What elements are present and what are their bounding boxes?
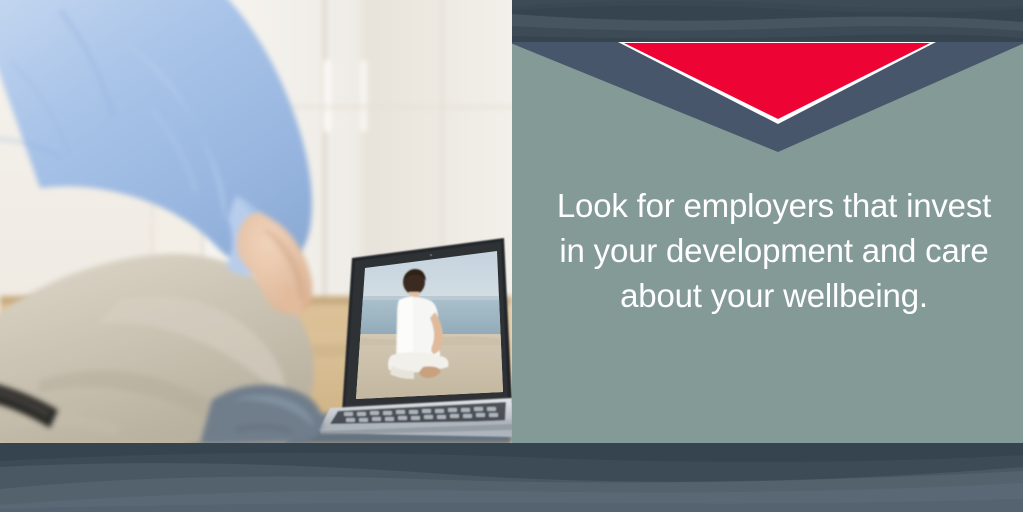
bottom-wave-band xyxy=(0,443,1023,512)
top-wave-band xyxy=(512,0,1023,44)
webcam-icon xyxy=(430,254,433,257)
quote-text: Look for employers that invest in your d… xyxy=(540,183,1008,318)
photo-man-with-laptop xyxy=(0,0,512,444)
top-wave-graphic xyxy=(512,0,1023,44)
slide-canvas: Look for employers that invest in your d… xyxy=(0,0,1023,512)
bottom-wave-graphic xyxy=(0,443,1023,512)
photo-illustration xyxy=(0,0,512,444)
laptop-screen xyxy=(350,245,512,409)
